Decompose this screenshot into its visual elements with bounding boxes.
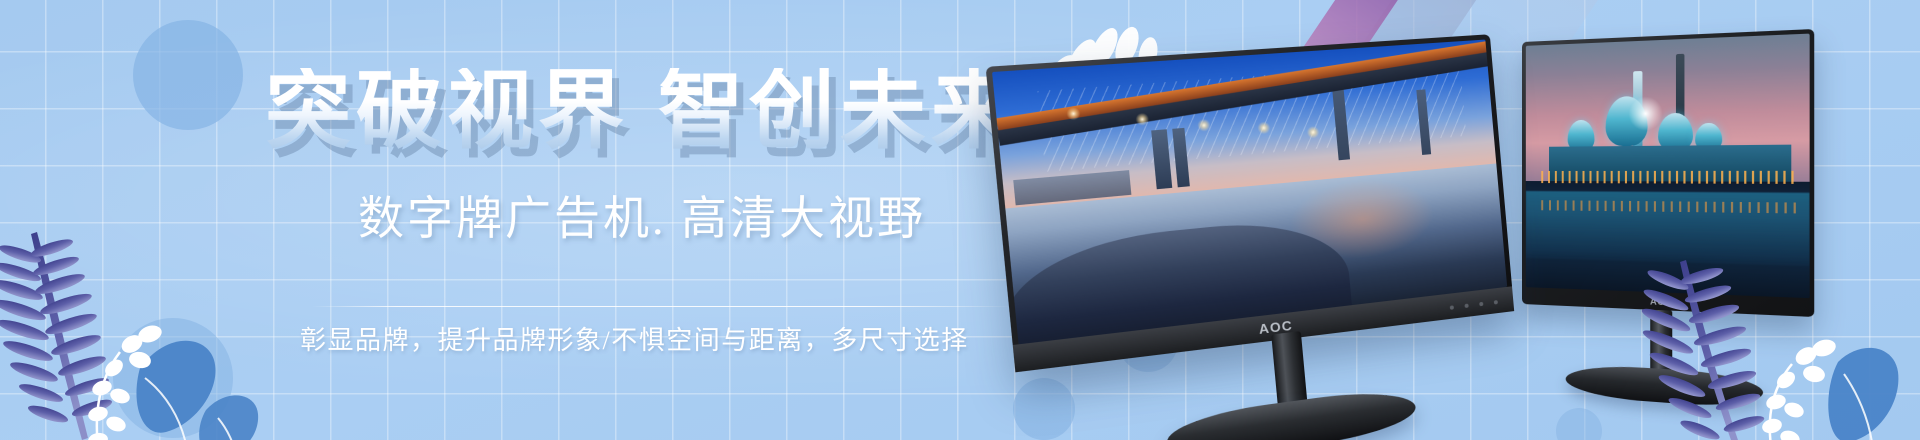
monitor-back-bezel: AOC (1522, 29, 1814, 317)
monitor-back-screen (1526, 34, 1810, 299)
monitor-back-brand-logo: AOC (1650, 296, 1673, 307)
monitor-back: AOC (1522, 29, 1814, 317)
banner-headline: 突破视界 智创未来 (265, 68, 1022, 154)
headline-block: 突破视界 智创未来 数字牌广告机. 高清大视野 彰显品牌，提升品牌形象/不惧空间… (0, 0, 1060, 440)
mosque-artwork (1526, 34, 1810, 299)
promo-banner: 突破视界 智创未来 数字牌广告机. 高清大视野 彰显品牌，提升品牌形象/不惧空间… (0, 0, 1920, 440)
monitor-back-stand-neck (1650, 310, 1672, 376)
text-divider (312, 306, 1018, 307)
product-monitors: AOC (1060, 0, 1920, 440)
monitor-front: AOC (986, 34, 1515, 372)
monitor-front-bezel: AOC (986, 34, 1515, 372)
banner-tagline: 彰显品牌，提升品牌形象/不惧空间与距离，多尺寸选择 (300, 320, 969, 357)
monitor-back-stand-base (1566, 363, 1763, 410)
banner-subheadline: 数字牌广告机. 高清大视野 (358, 182, 926, 248)
